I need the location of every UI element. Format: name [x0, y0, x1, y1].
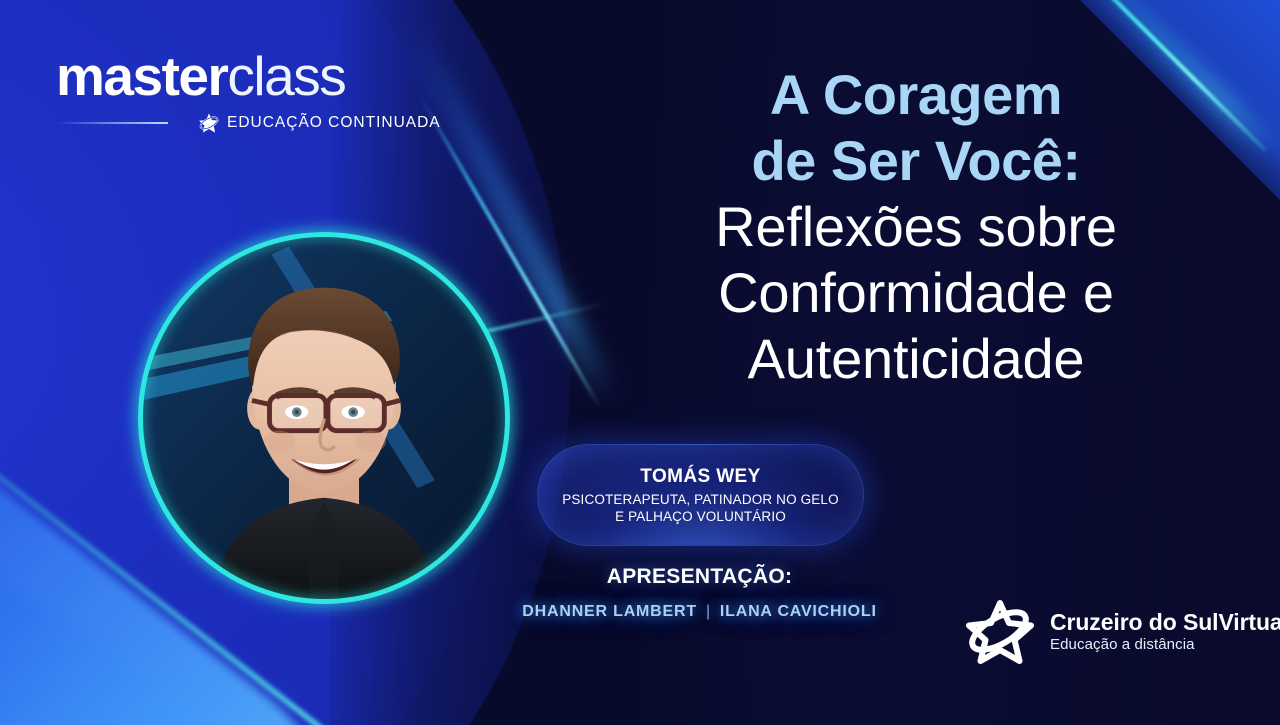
title-line-3: Reflexões sobre	[600, 194, 1232, 260]
speaker-portrait	[138, 232, 510, 604]
masterclass-tagline-row: EDUCAÇÃO CONTINUADA	[56, 112, 456, 134]
institution-text: Cruzeiro do SulVirtual Educação a distân…	[1050, 610, 1280, 653]
presenter-name-1: DHANNER LAMBERT	[522, 603, 697, 620]
masterclass-wordmark-light: class	[227, 45, 345, 107]
speaker-role-line-1: PSICOTERAPEUTA, PATINADOR NO GELO	[562, 491, 839, 508]
speaker-badge: TOMÁS WEY PSICOTERAPEUTA, PATINADOR NO G…	[537, 444, 864, 546]
masterclass-wordmark-bold: master	[56, 45, 227, 107]
presenter-name-2: ILANA CAVICHIOLI	[720, 603, 877, 620]
presentation-label: APRESENTAÇÃO:	[537, 565, 862, 589]
page-title: A Coragem de Ser Você: Reflexões sobre C…	[600, 62, 1232, 392]
presenters-row: DHANNER LAMBERT|ILANA CAVICHIOLI	[452, 603, 947, 621]
institution-name: Cruzeiro do SulVirtual	[1050, 609, 1280, 635]
portrait-ring	[138, 232, 510, 604]
title-line-1: A Coragem	[600, 62, 1232, 128]
speaker-name: TOMÁS WEY	[640, 466, 760, 488]
institution-logo: Cruzeiro do SulVirtual Educação a distân…	[962, 598, 1280, 664]
masterclass-tagline: EDUCAÇÃO CONTINUADA	[227, 114, 441, 132]
title-line-5: Autenticidade	[600, 326, 1232, 392]
speaker-role-line-2: E PALHAÇO VOLUNTÁRIO	[615, 508, 786, 525]
masterclass-wordmark: masterclass	[56, 48, 456, 106]
masterclass-slide: masterclass EDUCAÇÃO CONTINUADA	[0, 0, 1280, 725]
title-line-2: de Ser Você:	[600, 128, 1232, 194]
institution-tagline: Educação a distância	[1050, 637, 1280, 653]
title-line-4: Conformidade e	[600, 260, 1232, 326]
masterclass-logo: masterclass EDUCAÇÃO CONTINUADA	[56, 48, 456, 134]
star-atom-icon	[198, 112, 220, 134]
star-atom-icon	[962, 598, 1036, 664]
gradient-rule-icon	[56, 122, 168, 124]
presenter-separator: |	[697, 603, 720, 620]
